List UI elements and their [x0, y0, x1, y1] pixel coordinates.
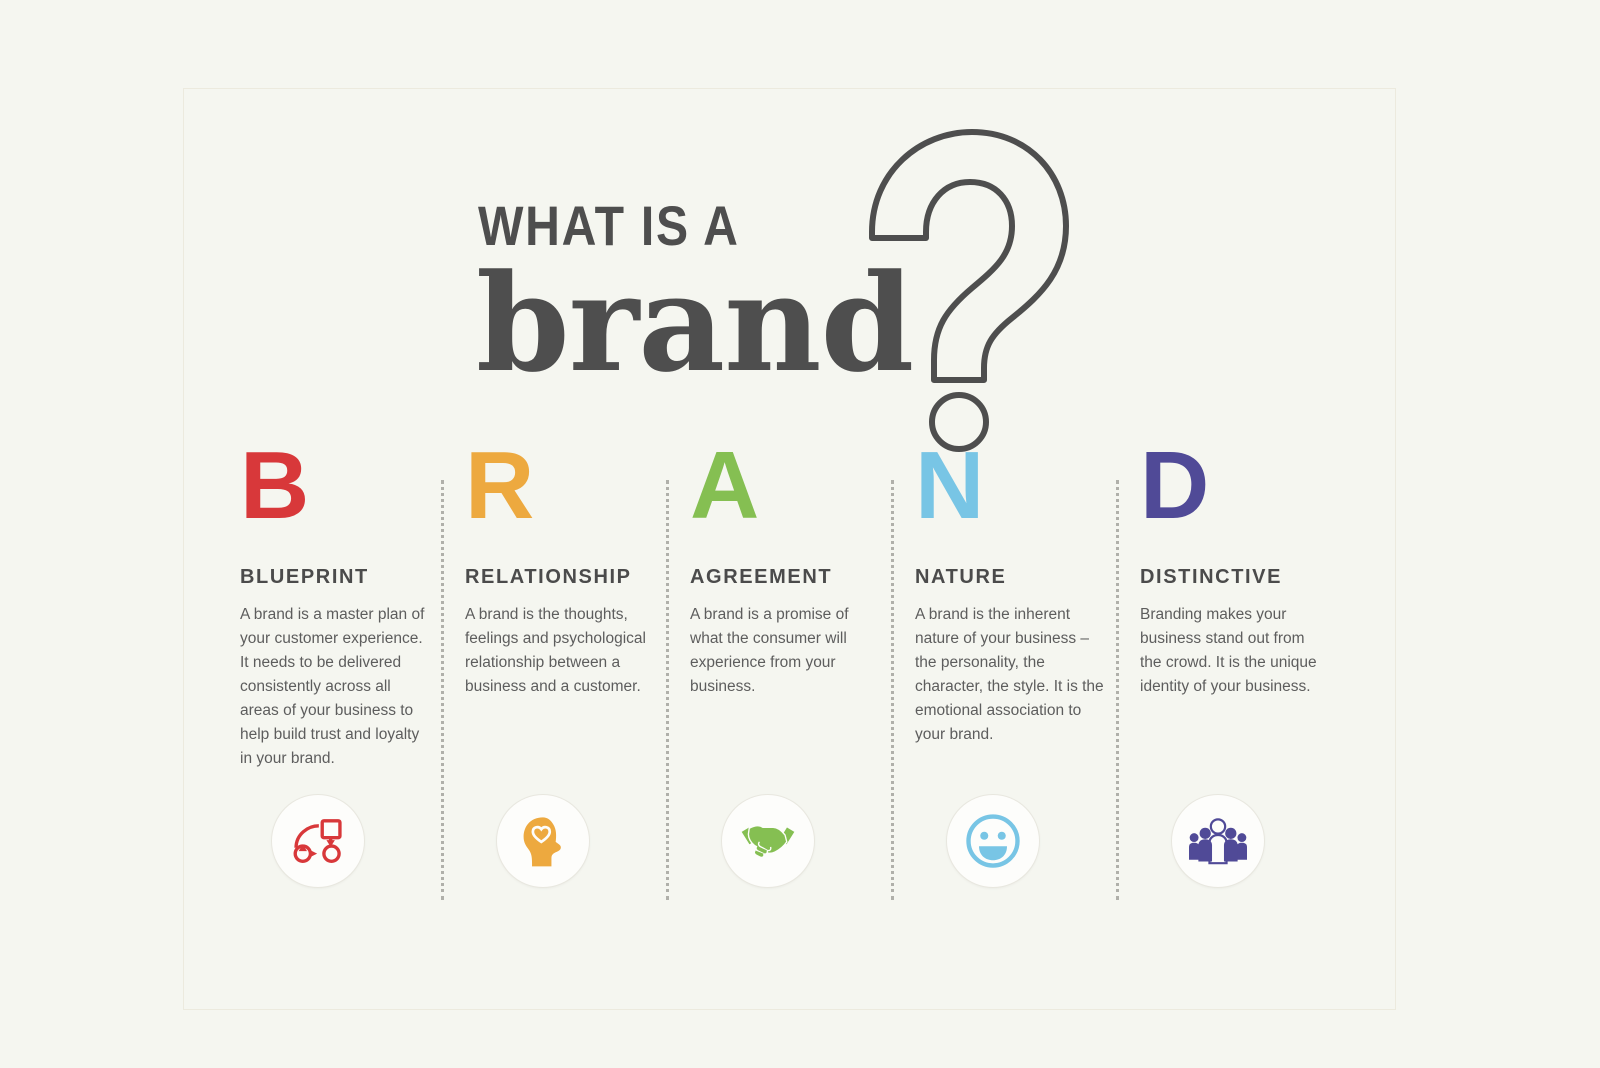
column-distinctive: D DISTINCTIVE Branding makes your busine… — [1140, 440, 1365, 910]
column-title-nature: NATURE — [915, 566, 1122, 589]
column-title-blueprint: BLUEPRINT — [240, 566, 447, 589]
group-of-people-icon — [1189, 817, 1247, 865]
icon-badge-relationship — [497, 795, 589, 887]
column-title-agreement: AGREEMENT — [690, 566, 897, 589]
page-title-line2: brand — [476, 256, 913, 390]
column-letter-a: A — [690, 440, 897, 540]
column-letter-n: N — [915, 440, 1122, 540]
brand-columns: B BLUEPRINT A brand is a master plan of … — [240, 440, 1370, 910]
column-blueprint: B BLUEPRINT A brand is a master plan of … — [240, 440, 465, 910]
column-divider-3 — [891, 480, 894, 900]
column-title-relationship: RELATIONSHIP — [465, 566, 672, 589]
column-letter-b: B — [240, 440, 447, 540]
question-mark-outline-icon — [850, 122, 1080, 452]
icon-badge-agreement — [722, 795, 814, 887]
column-body-nature: A brand is the inherent nature of your b… — [915, 603, 1105, 747]
flowchart-nodes-icon — [291, 814, 345, 868]
smiley-face-icon — [965, 813, 1021, 869]
column-agreement: A AGREEMENT A brand is a promise of what… — [690, 440, 915, 910]
column-divider-1 — [441, 480, 444, 900]
column-letter-d: D — [1140, 440, 1347, 540]
head-with-heart-icon — [517, 814, 569, 868]
column-letter-r: R — [465, 440, 672, 540]
column-relationship: R RELATIONSHIP A brand is the thoughts, … — [465, 440, 690, 910]
infographic-canvas: WHAT IS A brand B BLUEPRINT A brand is a… — [0, 0, 1600, 1068]
column-divider-4 — [1116, 480, 1119, 900]
column-nature: N NATURE A brand is the inherent nature … — [915, 440, 1140, 910]
column-body-agreement: A brand is a promise of what the consume… — [690, 603, 880, 699]
column-title-distinctive: DISTINCTIVE — [1140, 566, 1347, 589]
column-divider-2 — [666, 480, 669, 900]
handshake-icon — [739, 819, 797, 863]
column-body-distinctive: Branding makes your business stand out f… — [1140, 603, 1330, 699]
icon-badge-blueprint — [272, 795, 364, 887]
title-block: WHAT IS A brand — [470, 150, 1110, 450]
column-body-relationship: A brand is the thoughts, feelings and ps… — [465, 603, 655, 699]
icon-badge-distinctive — [1172, 795, 1264, 887]
column-body-blueprint: A brand is a master plan of your custome… — [240, 603, 430, 771]
icon-badge-nature — [947, 795, 1039, 887]
